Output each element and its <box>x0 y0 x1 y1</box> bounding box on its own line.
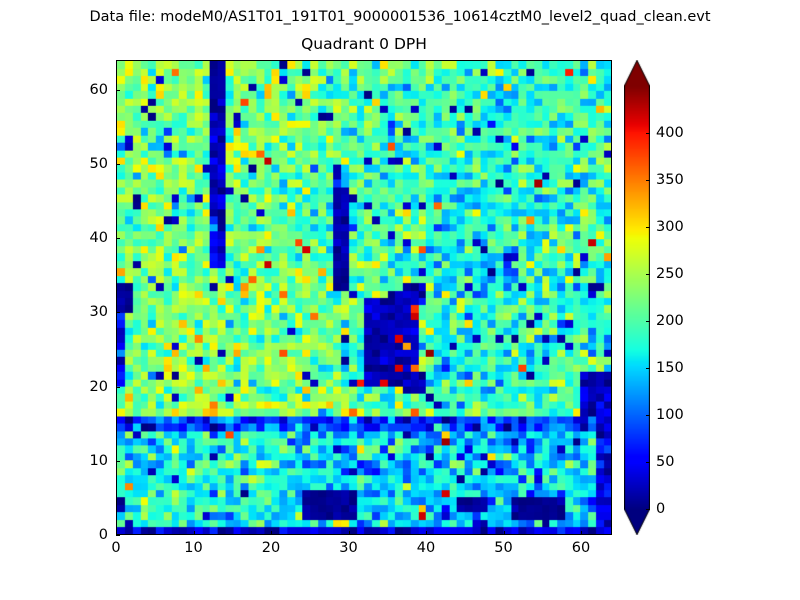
colorbar-tick-mark-250 <box>646 274 650 275</box>
colorbar-tick-label-200: 200 <box>656 314 684 328</box>
y-tick-label-40: 40 <box>50 231 108 245</box>
colorbar-tick-label-0: 0 <box>656 502 665 516</box>
x-tick-label-0: 0 <box>86 541 146 555</box>
x-tick-mark-60 <box>581 531 582 535</box>
x-tick-label-20: 20 <box>241 541 301 555</box>
colorbar <box>624 60 650 535</box>
y-tick-mark-20 <box>116 387 120 388</box>
y-tick-mark-40 <box>116 238 120 239</box>
y-tick-mark-60 <box>116 90 120 91</box>
figure-suptitle: Data file: modeM0/AS1T01_191T01_90000015… <box>0 8 800 26</box>
heatmap-image <box>117 61 611 534</box>
colorbar-tick-label-350: 350 <box>656 173 684 187</box>
x-tick-label-10: 10 <box>164 541 224 555</box>
x-tick-label-40: 40 <box>396 541 456 555</box>
y-tick-label-0: 0 <box>50 528 108 542</box>
y-tick-label-50: 50 <box>50 157 108 171</box>
colorbar-tick-label-300: 300 <box>656 220 684 234</box>
colorbar-tick-mark-0 <box>646 509 650 510</box>
x-tick-mark-20 <box>271 531 272 535</box>
y-tick-label-30: 30 <box>50 305 108 319</box>
y-tick-label-60: 60 <box>50 83 108 97</box>
x-tick-mark-10 <box>194 531 195 535</box>
colorbar-tick-mark-200 <box>646 321 650 322</box>
colorbar-tick-label-250: 250 <box>656 267 684 281</box>
y-tick-mark-10 <box>116 461 120 462</box>
colorbar-tick-label-100: 100 <box>656 408 684 422</box>
heatmap-plot-area <box>116 60 612 535</box>
x-tick-label-60: 60 <box>551 541 611 555</box>
colorbar-tick-label-150: 150 <box>656 361 684 375</box>
colorbar-tick-mark-50 <box>646 462 650 463</box>
x-tick-mark-0 <box>116 531 117 535</box>
y-tick-label-20: 20 <box>50 380 108 394</box>
colorbar-tick-label-400: 400 <box>656 126 684 140</box>
x-tick-label-50: 50 <box>474 541 534 555</box>
colorbar-gradient <box>624 60 650 535</box>
x-tick-mark-40 <box>426 531 427 535</box>
x-tick-mark-30 <box>349 531 350 535</box>
y-tick-mark-0 <box>116 535 120 536</box>
x-tick-label-30: 30 <box>319 541 379 555</box>
colorbar-tick-mark-100 <box>646 415 650 416</box>
colorbar-tick-mark-150 <box>646 368 650 369</box>
colorbar-tick-label-50: 50 <box>656 455 674 469</box>
y-tick-mark-30 <box>116 312 120 313</box>
colorbar-tick-mark-350 <box>646 180 650 181</box>
colorbar-tick-mark-300 <box>646 227 650 228</box>
y-tick-mark-50 <box>116 164 120 165</box>
page-title: Quadrant 0 DPH <box>116 34 612 54</box>
y-tick-label-10: 10 <box>50 454 108 468</box>
x-tick-mark-50 <box>504 531 505 535</box>
colorbar-tick-mark-400 <box>646 133 650 134</box>
